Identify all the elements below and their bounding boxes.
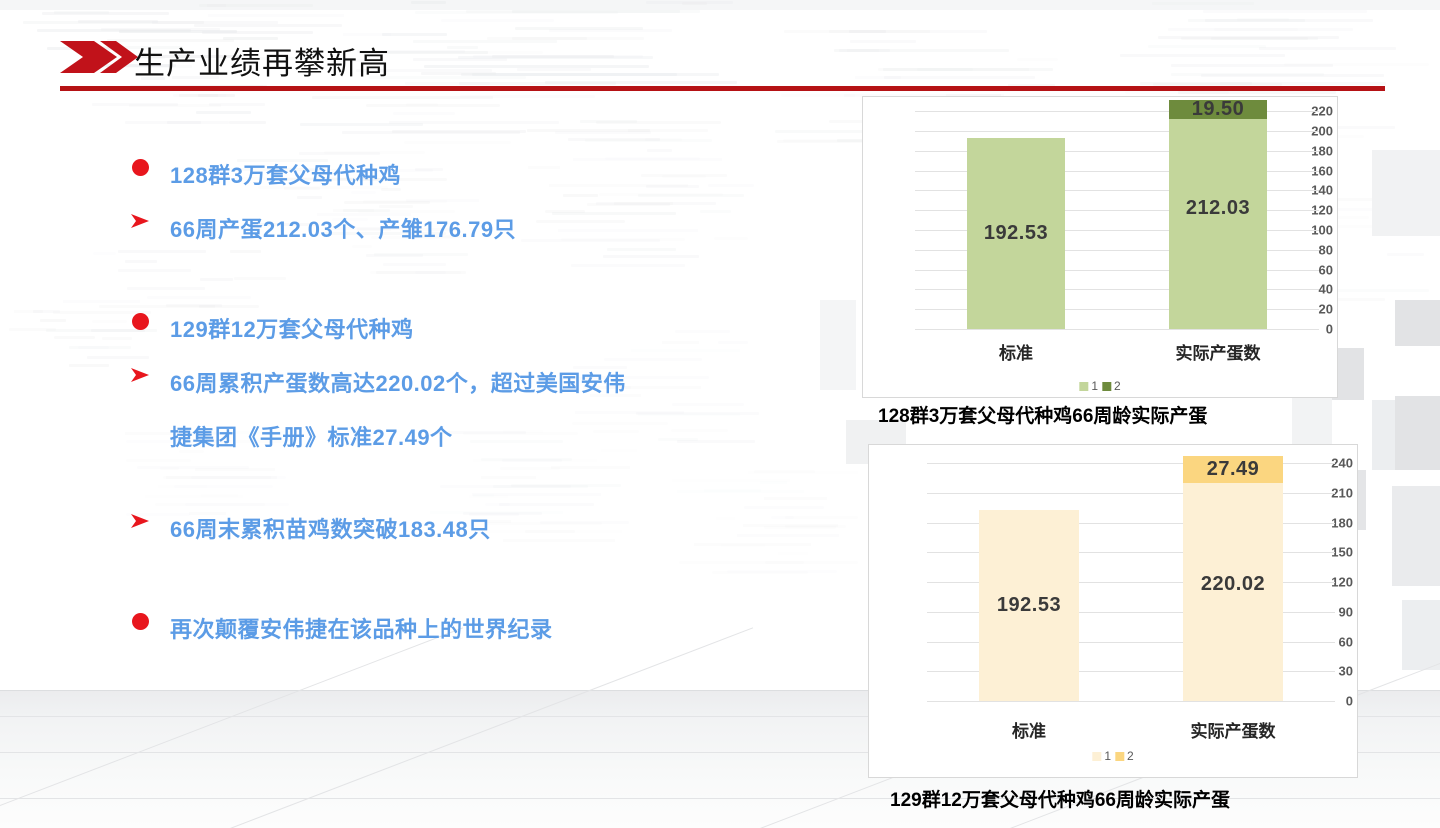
bullet-arrow-icon [110,204,170,229]
chart-panel-egg-production-128: 020406080100120140160180200220192.53标准21… [862,96,1338,398]
double-chevron-icon [60,40,138,74]
list-item-label: 66周产蛋212.03个、产雏176.79只 [170,204,516,256]
bar-segment: 19.50 [1169,100,1267,119]
legend-swatch-icon [1115,752,1124,761]
legend-item[interactable]: 1 [1092,749,1111,763]
bar-segment: 192.53 [967,138,1065,329]
bullet-arrow-icon [110,504,170,529]
slide-header: 生产业绩再攀新高 [0,0,1440,100]
list-item-label: 128群3万套父母代种鸡 [170,150,401,202]
x-axis-label: 标准 [999,339,1033,364]
list-item-label: 66周末累积苗鸡数突破183.48只 [170,504,491,556]
legend-label: 1 [1091,379,1098,393]
bar-value-label: 192.53 [997,594,1061,617]
page-title: 生产业绩再攀新高 [134,38,390,83]
legend-item[interactable]: 1 [1079,379,1098,393]
bar-segment: 27.49 [1183,456,1283,483]
list-item: 再次颠覆安伟捷在该品种上的世界纪录 [110,604,850,656]
bar-segment: 212.03 [1169,119,1267,329]
bar-value-label: 19.50 [1192,98,1245,121]
list-item: 129群12万套父母代种鸡 [110,304,850,356]
legend-swatch-icon [1092,752,1101,761]
chart1-plot-area: 020406080100120140160180200220192.53标准21… [863,97,1337,397]
chart-panel-egg-production-129: 0306090120150180210240192.53标准220.0227.4… [868,444,1358,778]
gridline [915,329,1319,330]
list-item: 66周产蛋212.03个、产雏176.79只 [110,204,850,256]
bar-value-label: 212.03 [1186,197,1250,220]
spacer [110,258,850,304]
bullet-dot-icon [110,150,170,176]
legend-swatch-icon [1102,382,1111,391]
legend-item[interactable]: 2 [1115,749,1134,763]
chart1-caption: 128群3万套父母代种鸡66周龄实际产蛋 [878,401,1207,428]
list-item-label: 66周累积产蛋数高达220.02个，超过美国安伟 [170,358,626,410]
bar-value-label: 27.49 [1207,458,1260,481]
gridline [927,701,1335,702]
chart2-caption: 129群12万套父母代种鸡66周龄实际产蛋 [890,785,1230,812]
list-item-continuation: 捷集团《手册》标准27.49个 [110,412,850,464]
list-item-label: 129群12万套父母代种鸡 [170,304,414,356]
x-axis-label: 实际产蛋数 [1191,717,1276,742]
list-item: 66周末累积苗鸡数突破183.48只 [110,504,850,556]
bar-value-label: 192.53 [984,222,1048,245]
spacer [110,558,850,604]
bullet-list: 128群3万套父母代种鸡 66周产蛋212.03个、产雏176.79只 129群… [110,150,850,658]
legend-label: 2 [1114,379,1121,393]
legend-swatch-icon [1079,382,1088,391]
chart-legend: 12 [1092,749,1133,763]
x-axis-label: 标准 [1012,717,1046,742]
bar-segment: 220.02 [1183,483,1283,701]
legend-label: 2 [1127,749,1134,763]
chart-legend: 12 [1079,379,1120,393]
list-item: 66周累积产蛋数高达220.02个，超过美国安伟 [110,358,850,410]
chart2-plot-area: 0306090120150180210240192.53标准220.0227.4… [869,445,1357,777]
x-axis-label: 实际产蛋数 [1176,339,1261,364]
list-item: 128群3万套父母代种鸡 [110,150,850,202]
spacer [110,464,850,504]
bullet-arrow-icon [110,358,170,383]
list-item-label: 再次颠覆安伟捷在该品种上的世界纪录 [170,604,553,656]
bar-value-label: 220.02 [1201,573,1265,596]
bar-segment: 192.53 [979,510,1079,701]
legend-item[interactable]: 2 [1102,379,1121,393]
title-underline-rule [60,86,1385,91]
bullet-dot-icon [110,304,170,330]
bullet-dot-icon [110,604,170,630]
legend-label: 1 [1104,749,1111,763]
